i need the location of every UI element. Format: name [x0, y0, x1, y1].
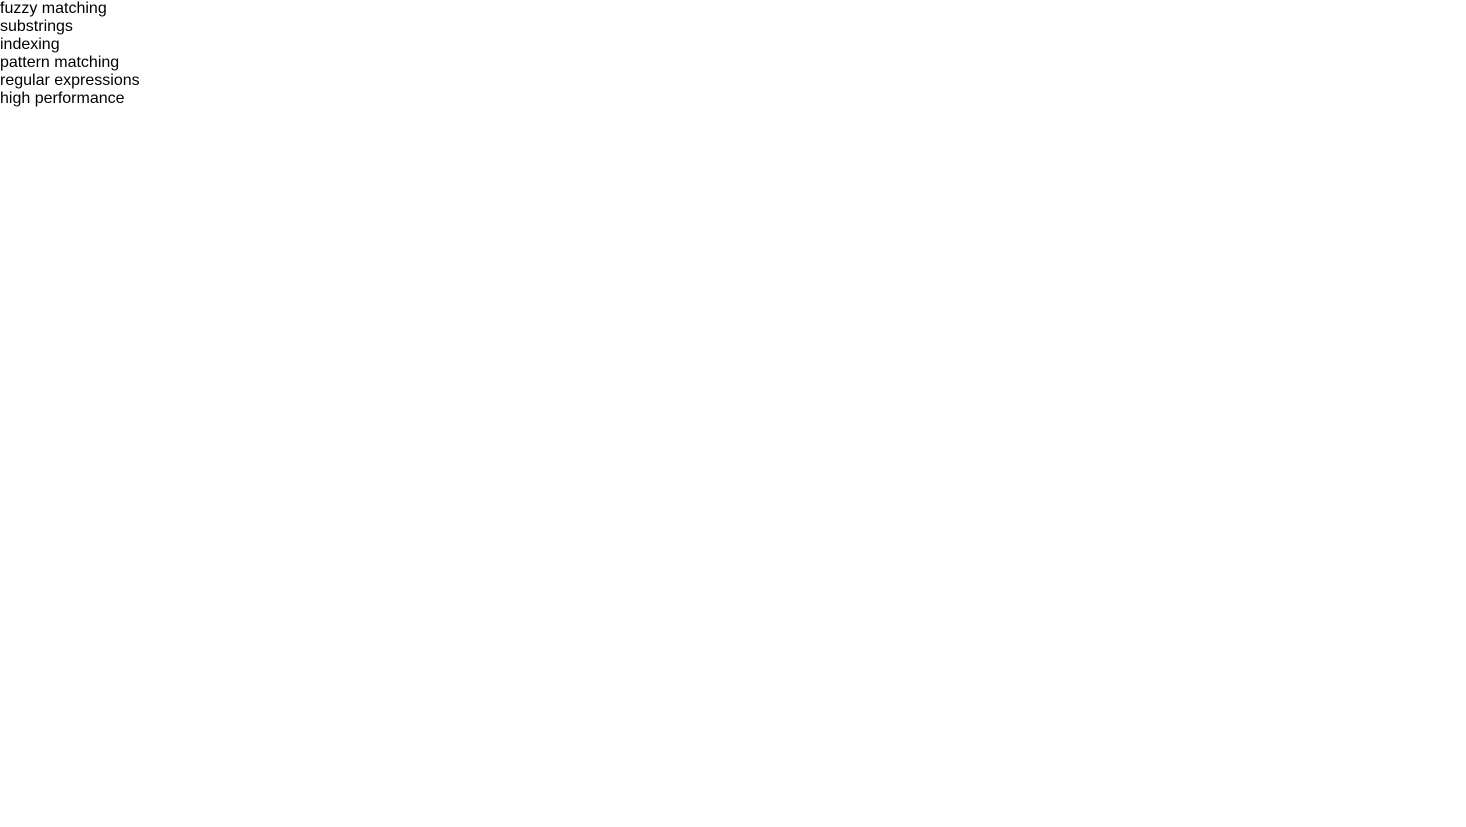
feature-pill-label: regular expressions [0, 72, 140, 89]
feature-pill-label: indexing [0, 36, 60, 53]
feature-pill-grid: fuzzy matching substrings indexing patte… [0, 0, 140, 108]
feature-pill-label: substrings [0, 18, 73, 35]
feature-pill-label: high performance [0, 90, 125, 107]
feature-pill-row-1: fuzzy matching substrings indexing [0, 0, 140, 54]
features-card: fuzzy matching substrings indexing patte… [0, 0, 140, 108]
slide-canvas: LIKE VS ILIKE [0, 0, 1466, 827]
feature-pill-regular-expressions[interactable]: regular expressions [0, 72, 140, 90]
feature-pill-substrings[interactable]: substrings [0, 18, 140, 36]
feature-pill-high-performance[interactable]: high performance [0, 90, 140, 108]
feature-pill-indexing[interactable]: indexing [0, 36, 140, 54]
feature-pill-fuzzy-matching[interactable]: fuzzy matching [0, 0, 140, 18]
feature-pill-pattern-matching[interactable]: pattern matching [0, 54, 140, 72]
feature-pill-label: fuzzy matching [0, 0, 107, 17]
feature-pill-label: pattern matching [0, 54, 119, 71]
feature-pill-row-2: pattern matching regular expressions hig… [0, 54, 140, 108]
